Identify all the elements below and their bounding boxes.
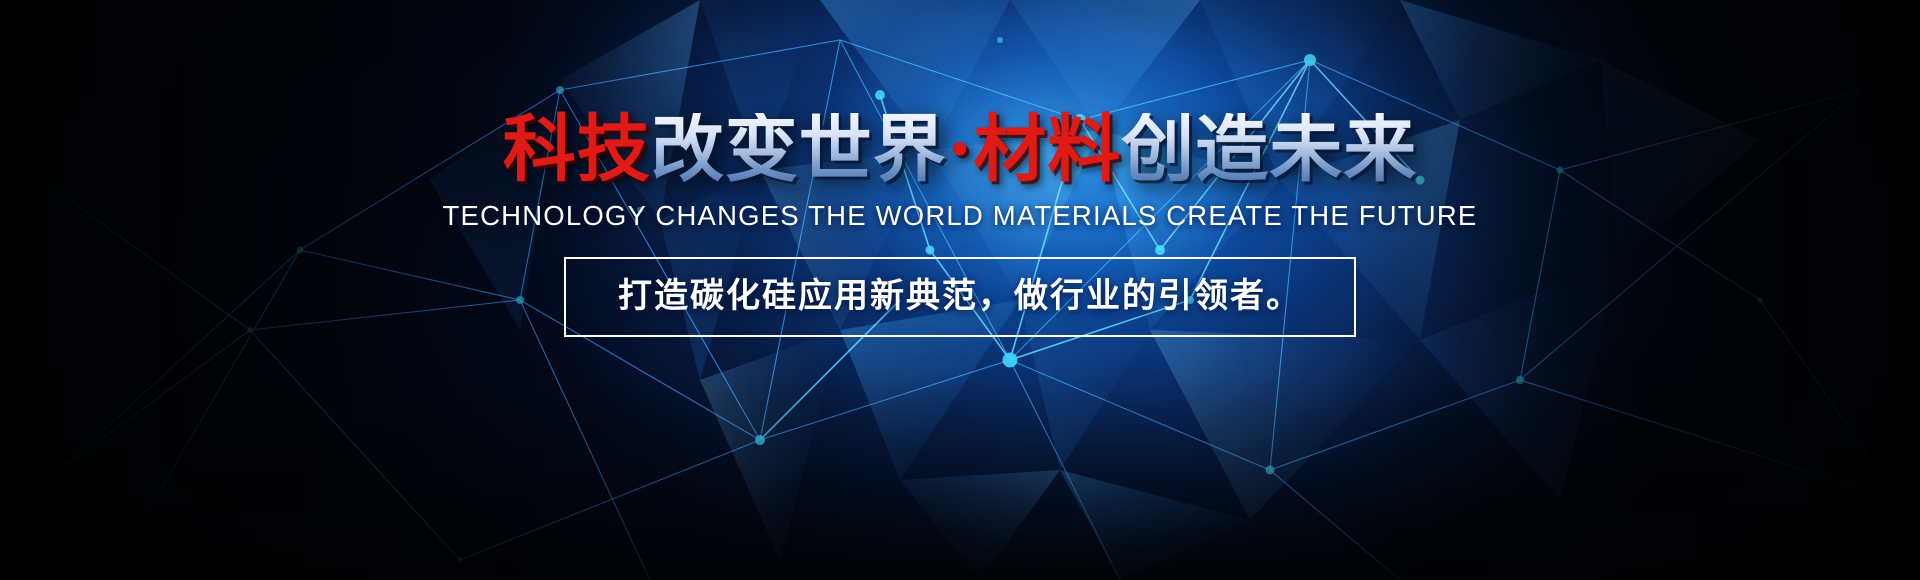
- banner-subtitle: TECHNOLOGY CHANGES THE WORLD MATERIALS C…: [443, 200, 1478, 232]
- slogan-box: 打造碳化硅应用新典范，做行业的引领者。: [564, 257, 1356, 337]
- title-segment-red-2: ·材料: [947, 113, 1121, 186]
- banner-title: 科技 改变世界 ·材料 创造未来: [503, 113, 1417, 186]
- banner-content: 科技 改变世界 ·材料 创造未来 TECHNOLOGY CHANGES THE …: [0, 0, 1920, 580]
- title-segment-silver-1: 改变世界: [651, 113, 947, 186]
- hero-banner: 科技 改变世界 ·材料 创造未来 TECHNOLOGY CHANGES THE …: [0, 0, 1920, 580]
- title-segment-silver-2: 创造未来: [1121, 113, 1417, 186]
- title-segment-red-1: 科技: [503, 113, 651, 186]
- slogan-text: 打造碳化硅应用新典范，做行业的引领者。: [618, 279, 1302, 313]
